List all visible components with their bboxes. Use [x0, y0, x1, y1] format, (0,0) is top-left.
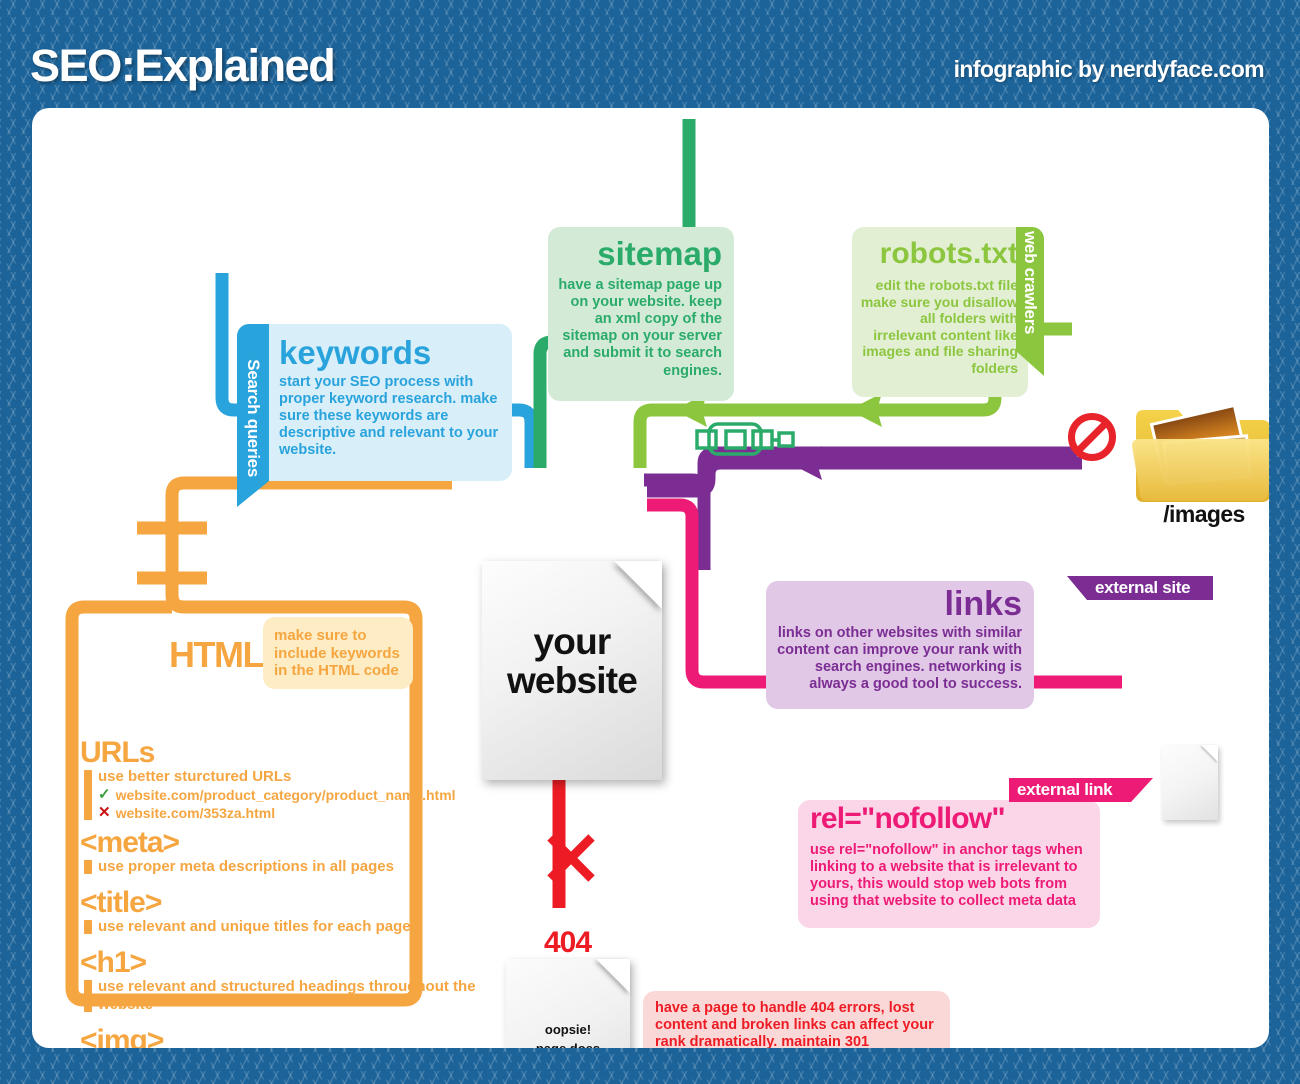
- html-section-tag: <title>: [80, 888, 480, 918]
- arrowhead-robots-2: [849, 393, 882, 427]
- url-example-bad: ✕ website.com/353za.html: [98, 804, 480, 822]
- html-sections-list: URLs use better sturctured URLs ✓ websit…: [80, 738, 480, 1048]
- links-panel: links links on other websites with simil…: [766, 581, 1034, 709]
- sitemap-body: have a sitemap page up on your website. …: [555, 277, 722, 380]
- oopsie-line1: oopsie!: [545, 1022, 591, 1037]
- connector-links: [644, 453, 1077, 570]
- keywords-heading: keywords: [279, 336, 431, 369]
- error-404-code: 404: [544, 926, 591, 960]
- sitemap-heading: sitemap: [597, 237, 722, 270]
- cross-icon: ✕: [98, 804, 111, 822]
- your-website-line1: your: [534, 621, 611, 662]
- html-section-desc-text: use better sturctured URLs: [98, 768, 291, 785]
- html-section-desc: use proper meta descriptions in all page…: [80, 858, 480, 876]
- html-section-tag: <meta>: [80, 828, 480, 858]
- html-section-desc: use relevant and unique titles for each …: [80, 918, 480, 936]
- nofollow-body: use rel="nofollow" in anchor tags when l…: [810, 842, 1098, 910]
- your-website-label: your website: [482, 623, 662, 701]
- html-section-tag: URLs: [80, 738, 480, 768]
- html-section-urls: URLs use better sturctured URLs ✓ websit…: [80, 738, 480, 822]
- nofollow-heading: rel="nofollow": [810, 804, 1005, 834]
- url-example-good: ✓ website.com/product_category/product_n…: [98, 786, 480, 804]
- search-queries-label: Search queries: [237, 324, 269, 481]
- web-crawlers-label: web crawlers: [1016, 227, 1044, 355]
- external-site-tag-nub: [1067, 576, 1087, 600]
- error-404-panel: have a page to handle 404 errors, lost c…: [643, 991, 950, 1048]
- no-entry-icon: [1068, 413, 1116, 461]
- error-page-fold-corner: [596, 959, 630, 993]
- links-body: links on other websites with similar con…: [774, 625, 1022, 693]
- keywords-panel: keywords start your SEO process with pro…: [237, 324, 512, 481]
- red-x-icon: [544, 831, 598, 885]
- url-example-bad-text: website.com/353za.html: [116, 805, 276, 822]
- keywords-tab-tail: [237, 481, 301, 507]
- images-folder-icon: [1130, 402, 1269, 508]
- connector-links-main: [647, 463, 1082, 491]
- your-website-line2: website: [507, 660, 637, 701]
- external-link-tag: external link: [1009, 778, 1131, 802]
- images-folder-label: /images: [1130, 501, 1269, 528]
- html-section-desc: use relevant and structured headings thr…: [80, 978, 480, 1014]
- html-section-title: <title> use relevant and unique titles f…: [80, 888, 480, 936]
- infographic-canvas: keywords start your SEO process with pro…: [32, 108, 1269, 1048]
- external-blank-page-icon: [1162, 745, 1218, 820]
- html-section-desc: use better sturctured URLs ✓ website.com…: [80, 768, 480, 822]
- robots-panel: robots.txt edit the robots.txt file make…: [852, 227, 1028, 397]
- html-tooltip: make sure to include keywords in the HTM…: [263, 617, 413, 689]
- error-404-page-text: oopsie! page does not exist: [506, 1021, 630, 1048]
- oopsie-line2: page does: [536, 1041, 600, 1048]
- external-page-fold-corner: [1201, 745, 1218, 762]
- html-section-img: <img> make use of the alt description fo…: [80, 1026, 480, 1048]
- keywords-body: start your SEO process with proper keywo…: [279, 374, 504, 460]
- html-section-h1: <h1> use relevant and structured heading…: [80, 948, 480, 1014]
- external-site-tag: external site: [1087, 576, 1213, 600]
- error-404-body: have a page to handle 404 errors, lost c…: [655, 1000, 945, 1048]
- your-website-page-icon: your website: [482, 561, 662, 780]
- html-section-meta: <meta> use proper meta descriptions in a…: [80, 828, 480, 876]
- sitemap-node-diagram-icon: [695, 420, 795, 458]
- nofollow-panel: rel="nofollow" use rel="nofollow" in anc…: [798, 800, 1100, 928]
- html-section-tag: <img>: [80, 1026, 480, 1048]
- page-title: SEO:Explained: [30, 40, 334, 92]
- html-tooltip-text: make sure to include keywords in the HTM…: [274, 627, 404, 680]
- credit-line: infographic by nerdyface.com: [954, 56, 1264, 83]
- url-example-good-text: website.com/product_category/product_nam…: [116, 787, 456, 804]
- sitemap-panel: sitemap have a sitemap page up on your w…: [548, 227, 734, 401]
- robots-heading: robots.txt: [880, 239, 1018, 269]
- external-link-tag-nub: [1131, 778, 1153, 802]
- error-404-page-icon: oopsie! page does not exist: [506, 959, 630, 1048]
- html-section-tag: <h1>: [80, 948, 480, 978]
- links-heading: links: [945, 587, 1022, 621]
- robots-body: edit the robots.txt file make sure you d…: [858, 277, 1018, 376]
- page-fold-corner: [614, 561, 662, 609]
- html-label: HTML: [169, 634, 263, 676]
- header: SEO:Explained infographic by nerdyface.c…: [0, 0, 1300, 108]
- check-icon: ✓: [98, 786, 111, 804]
